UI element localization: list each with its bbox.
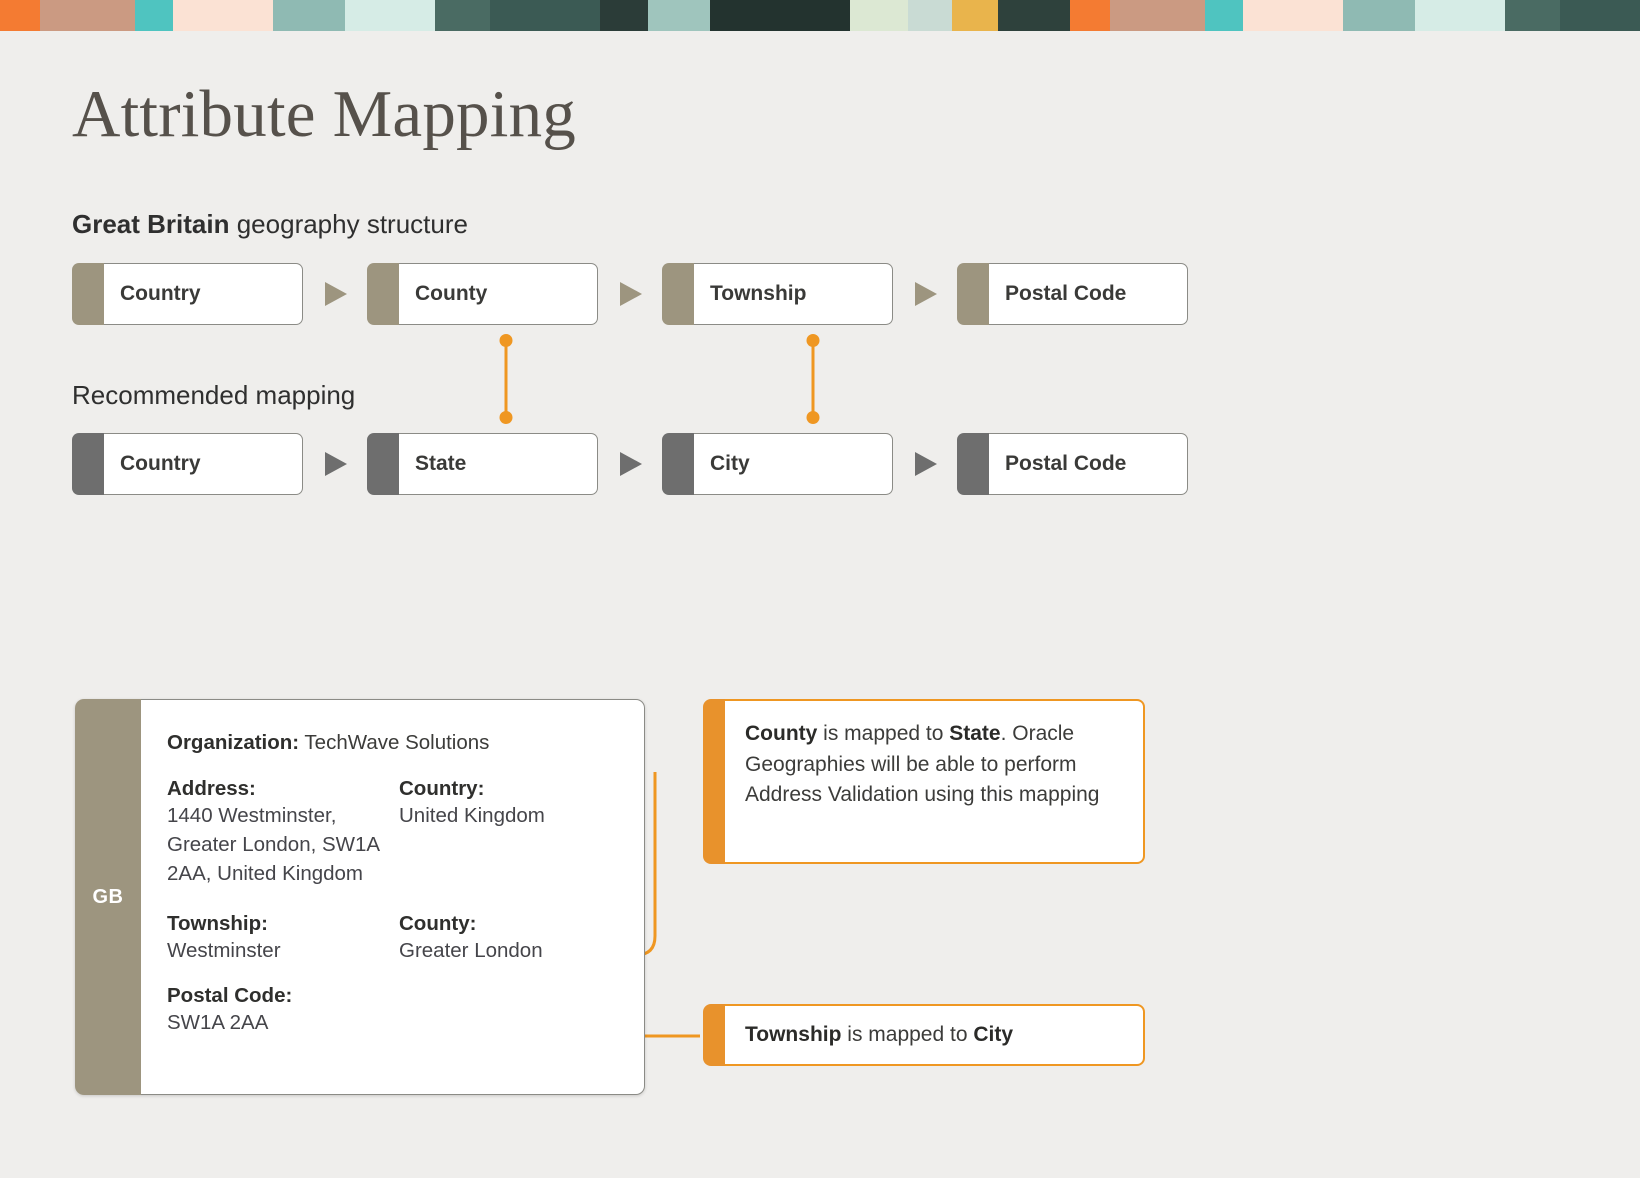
banner-slab <box>1415 0 1505 31</box>
chip-body: County <box>399 263 598 325</box>
banner-slab <box>173 0 273 31</box>
decorative-banner <box>0 0 1640 31</box>
callout-plain: is mapped to <box>841 1023 973 1046</box>
organization-label: Organization: <box>167 731 299 754</box>
banner-slab <box>1205 0 1243 31</box>
township-label: Township: <box>167 912 399 936</box>
chip-label: Country <box>120 282 201 306</box>
callout-text: County is mapped to State. Oracle Geogra… <box>745 719 1123 811</box>
organization-card: GB Organization: TechWave Solutions Addr… <box>75 699 645 1095</box>
chip-accent-tab <box>72 263 104 325</box>
postal-code-value: SW1A 2AA <box>167 1008 618 1037</box>
banner-slab <box>998 0 1070 31</box>
callout-emphasis: County <box>745 722 817 745</box>
township-field: Township: Westminster <box>167 912 399 965</box>
callout-accent-tab <box>703 1004 725 1066</box>
organization-card-body: Organization: TechWave Solutions Address… <box>141 699 645 1095</box>
banner-slab <box>40 0 135 31</box>
county-value: Greater London <box>399 936 618 965</box>
callout-plain: is mapped to <box>817 722 949 745</box>
structure-heading: Great Britain geography structure <box>72 209 468 240</box>
chip-body: Country <box>104 433 303 495</box>
callout-township-to-city: Township is mapped to City <box>703 1004 1145 1066</box>
chip-township[interactable]: Township <box>662 263 893 325</box>
arrow-right-icon <box>612 276 648 312</box>
banner-slab <box>1343 0 1415 31</box>
chip-accent-tab <box>662 263 694 325</box>
connector-dot-icon <box>499 411 512 424</box>
chip-body: State <box>399 433 598 495</box>
callout-emphasis: State <box>949 722 1000 745</box>
connector-line <box>504 340 507 418</box>
chip-accent-tab <box>72 433 104 495</box>
banner-slab <box>135 0 173 31</box>
recommended-heading: Recommended mapping <box>72 380 355 411</box>
chip-body: City <box>694 433 893 495</box>
chip-label: County <box>415 282 487 306</box>
slide-canvas: Attribute Mapping Great Britain geograph… <box>0 0 1640 1178</box>
township-value: Westminster <box>167 936 399 965</box>
arrow-right-icon <box>317 446 353 482</box>
country-code-label: GB <box>93 886 124 909</box>
address-label: Address: <box>167 777 399 801</box>
structure-heading-bold: Great Britain <box>72 209 230 239</box>
township-county-row: Township: Westminster County: Greater Lo… <box>167 912 618 983</box>
banner-slab <box>345 0 435 31</box>
address-value: 1440 Westminster, Greater London, SW1A 2… <box>167 801 399 888</box>
structure-heading-rest: geography structure <box>230 209 468 239</box>
chip-city[interactable]: City <box>662 433 893 495</box>
chip-label: Postal Code <box>1005 452 1126 476</box>
banner-slab <box>435 0 490 31</box>
arrow-right-icon <box>907 446 943 482</box>
chip-body: Postal Code <box>989 263 1188 325</box>
chip-label: City <box>710 452 750 476</box>
chip-accent-tab <box>957 263 989 325</box>
banner-slab <box>648 0 710 31</box>
connector-line <box>811 340 814 418</box>
banner-slab <box>1505 0 1560 31</box>
banner-slab <box>600 0 648 31</box>
banner-slab <box>1110 0 1205 31</box>
callout-emphasis: Township <box>745 1023 841 1046</box>
callout-accent-tab <box>703 699 725 864</box>
banner-slab <box>273 0 345 31</box>
banner-slab <box>0 0 40 31</box>
country-value: United Kingdom <box>399 801 618 830</box>
connector-dot-icon <box>806 411 819 424</box>
banner-slab <box>1560 0 1640 31</box>
structure-chip-row: CountryCountyTownshipPostal Code <box>72 263 1188 325</box>
chip-accent-tab <box>367 433 399 495</box>
chip-country[interactable]: Country <box>72 263 303 325</box>
connector-county-to-state <box>499 334 512 424</box>
banner-slab <box>1243 0 1343 31</box>
chip-postal-code[interactable]: Postal Code <box>957 263 1188 325</box>
country-code-tab: GB <box>75 699 141 1095</box>
address-field: Address: 1440 Westminster, Greater Londo… <box>167 777 399 888</box>
callout-county-to-state: County is mapped to State. Oracle Geogra… <box>703 699 1145 864</box>
banner-slab <box>952 0 998 31</box>
country-field: Country: United Kingdom <box>399 777 618 888</box>
address-country-row: Address: 1440 Westminster, Greater Londo… <box>167 777 618 906</box>
banner-slab <box>490 0 600 31</box>
county-field: County: Greater London <box>399 912 618 965</box>
organization-value: TechWave Solutions <box>299 731 489 754</box>
banner-slab <box>908 0 952 31</box>
postal-code-label: Postal Code: <box>167 984 618 1008</box>
chip-label: Country <box>120 452 201 476</box>
organization-row: Organization: TechWave Solutions <box>167 728 618 757</box>
banner-slab <box>710 0 850 31</box>
chip-postal-code[interactable]: Postal Code <box>957 433 1188 495</box>
arrow-right-icon <box>317 276 353 312</box>
chip-state[interactable]: State <box>367 433 598 495</box>
connector-township-to-city <box>806 334 819 424</box>
chip-label: Postal Code <box>1005 282 1126 306</box>
chip-accent-tab <box>367 263 399 325</box>
page-title: Attribute Mapping <box>72 76 576 153</box>
callout-emphasis: City <box>973 1023 1013 1046</box>
callout-body: Township is mapped to City <box>725 1004 1145 1066</box>
chip-body: Postal Code <box>989 433 1188 495</box>
chip-label: Township <box>710 282 806 306</box>
postal-code-field: Postal Code: SW1A 2AA <box>167 984 618 1037</box>
arrow-right-icon <box>612 446 648 482</box>
recommended-heading-rest: Recommended mapping <box>72 380 355 410</box>
chip-county[interactable]: County <box>367 263 598 325</box>
arrow-right-icon <box>907 276 943 312</box>
chip-label: State <box>415 452 466 476</box>
banner-slab <box>1070 0 1110 31</box>
callout-text: Township is mapped to City <box>745 1020 1013 1051</box>
callout-body: County is mapped to State. Oracle Geogra… <box>725 699 1145 864</box>
chip-accent-tab <box>957 433 989 495</box>
chip-accent-tab <box>662 433 694 495</box>
banner-slab <box>850 0 908 31</box>
banner-strip <box>0 0 1640 31</box>
county-label: County: <box>399 912 618 936</box>
chip-country[interactable]: Country <box>72 433 303 495</box>
chip-body: Country <box>104 263 303 325</box>
chip-body: Township <box>694 263 893 325</box>
country-label: Country: <box>399 777 618 801</box>
recommended-chip-row: CountryStateCityPostal Code <box>72 433 1188 495</box>
